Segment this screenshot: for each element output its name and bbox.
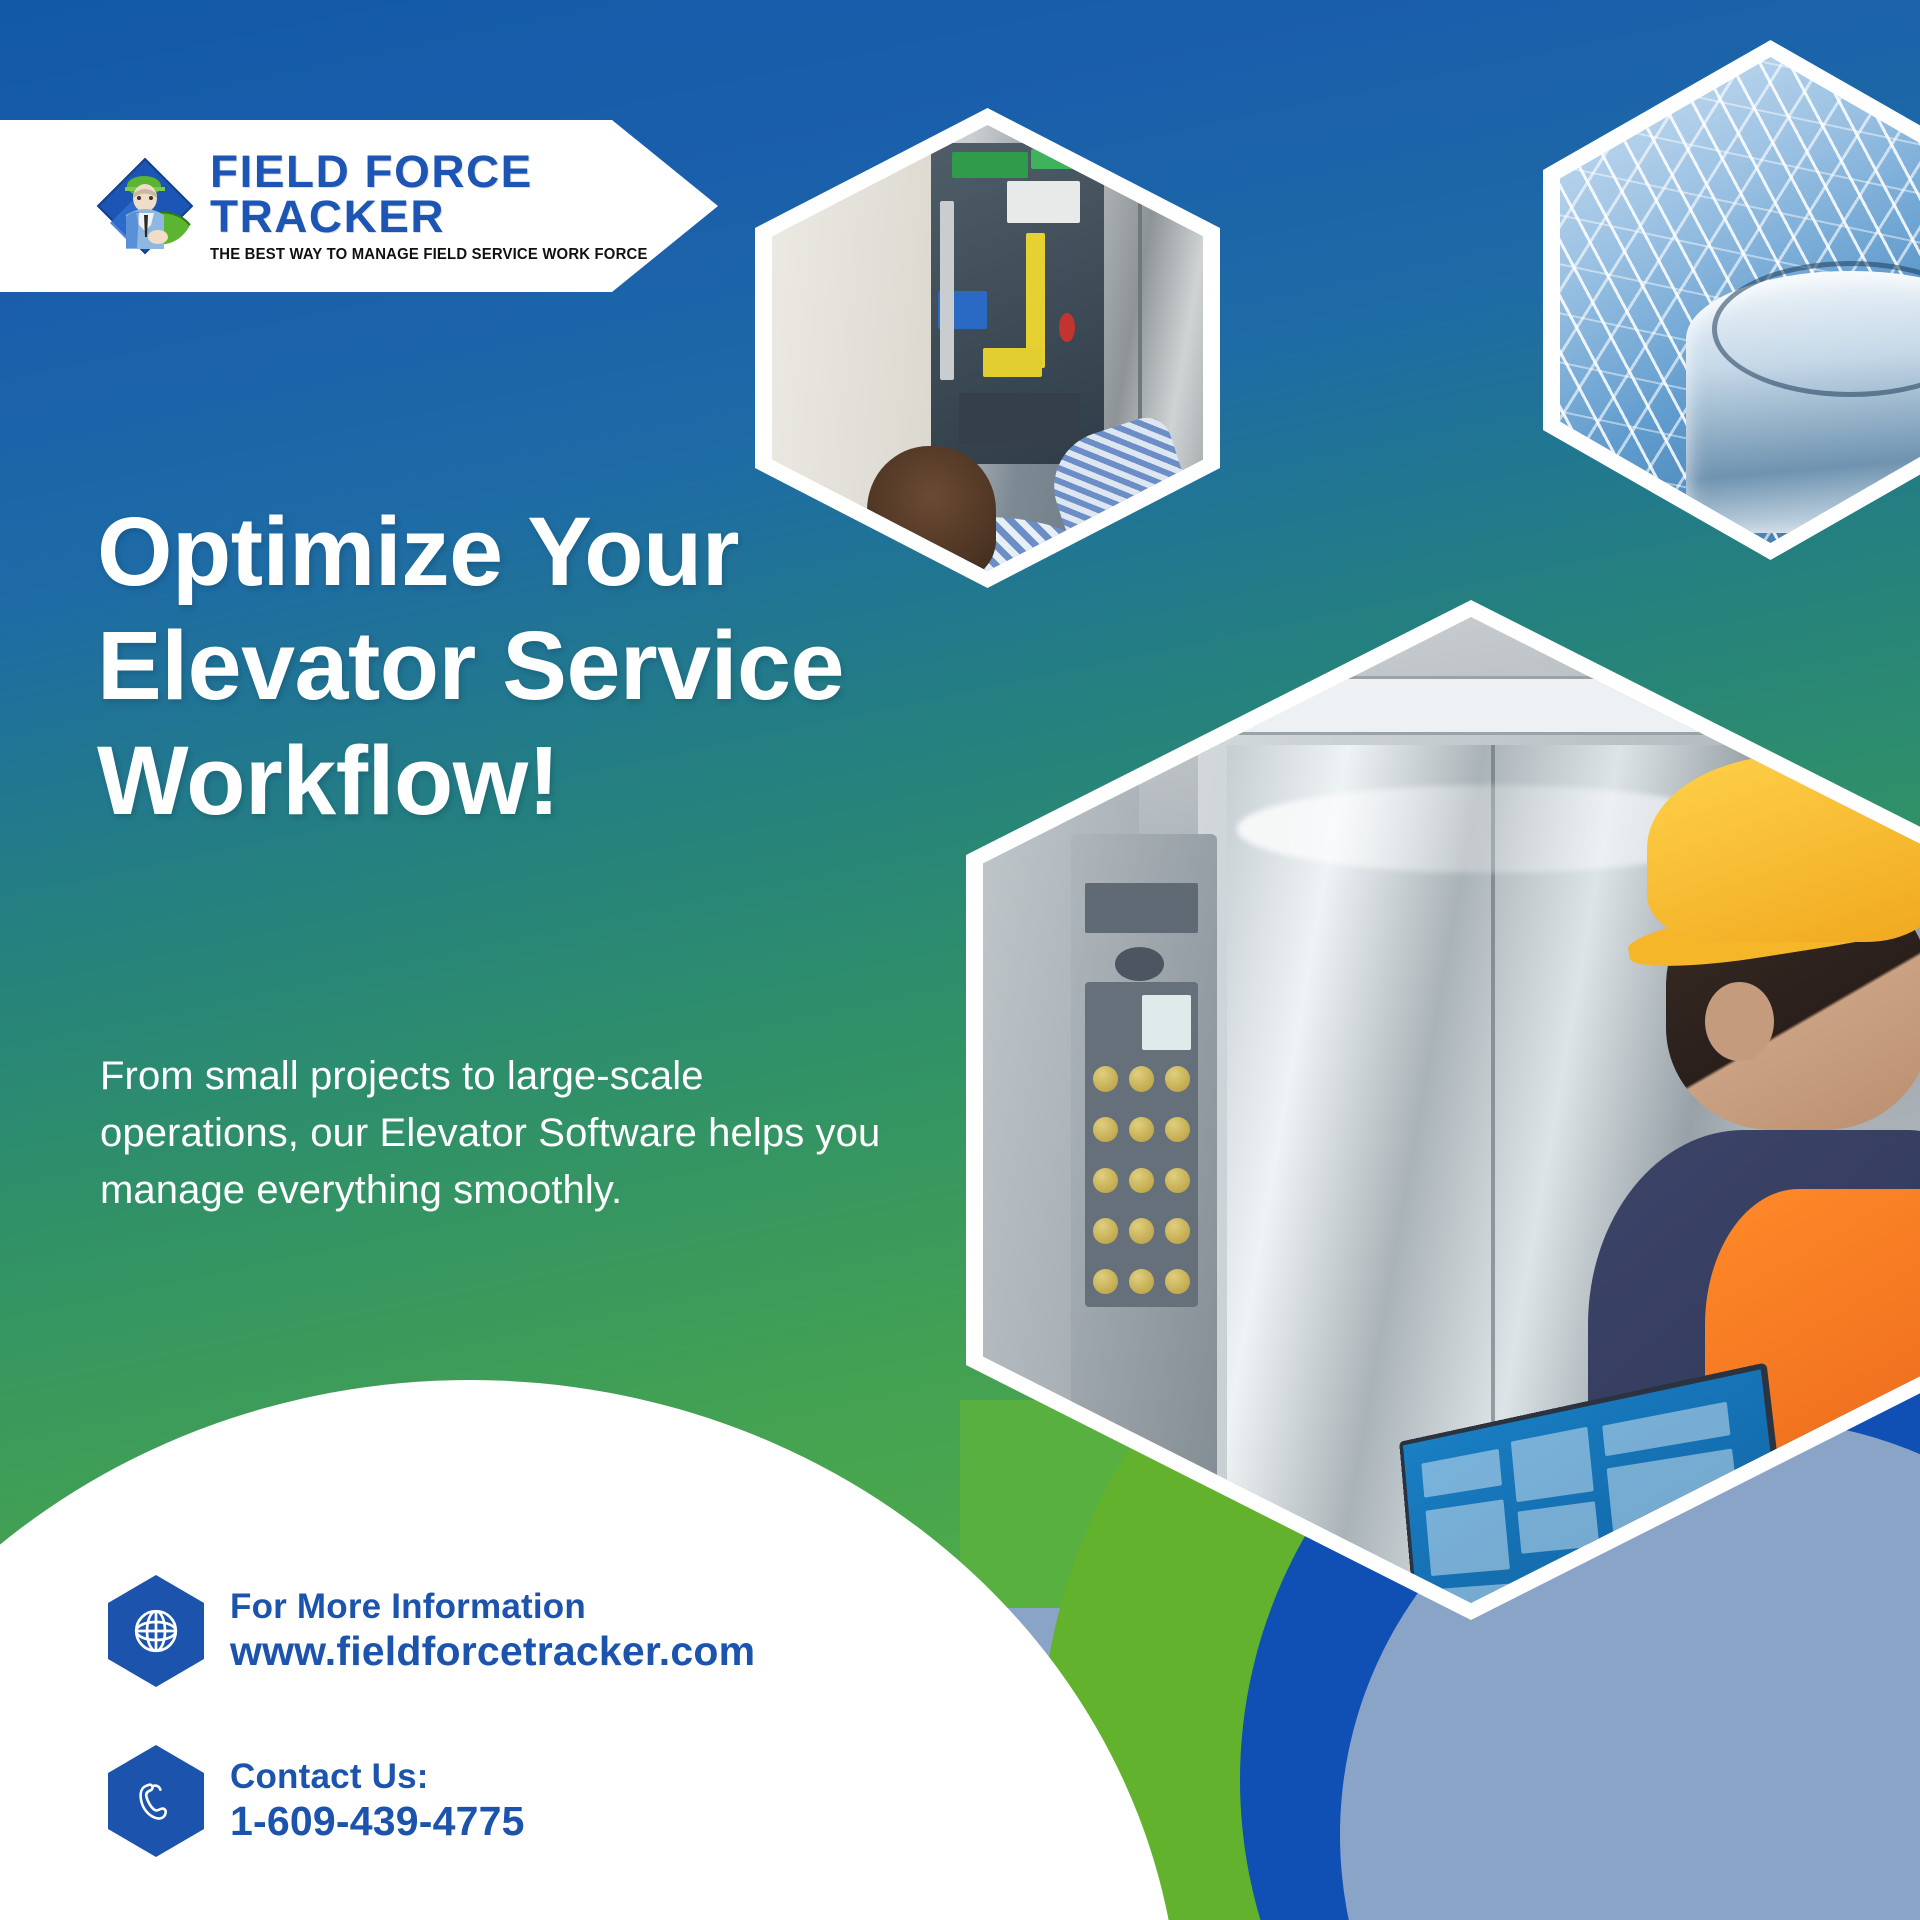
poster-canvas: FIELD FORCE TRACKER THE BEST WAY TO MANA… <box>0 0 1920 1920</box>
phone-label: Contact Us: <box>230 1757 525 1798</box>
globe-icon <box>108 1575 204 1687</box>
phone-icon <box>108 1745 204 1857</box>
contact-phone[interactable]: Contact Us: 1-609-439-4775 <box>108 1745 525 1857</box>
contact-website[interactable]: For More Information www.fieldforcetrack… <box>108 1575 755 1687</box>
logo-tagline: THE BEST WAY TO MANAGE FIELD SERVICE WOR… <box>210 246 698 264</box>
photo-elevator-control-panel-technician <box>755 108 1220 588</box>
field-technician-logo-icon <box>92 153 198 259</box>
logo-title: FIELD FORCE TRACKER <box>210 149 728 239</box>
phone-number[interactable]: 1-609-439-4775 <box>230 1798 525 1846</box>
logo-banner: FIELD FORCE TRACKER THE BEST WAY TO MANA… <box>0 120 718 292</box>
photo-elevator-shaft-structure <box>1543 40 1920 560</box>
hero-description: From small projects to large-scale opera… <box>100 1048 900 1220</box>
website-label: For More Information <box>230 1587 755 1628</box>
photo-elevator-worker-laptop <box>966 600 1920 1620</box>
website-url[interactable]: www.fieldforcetracker.com <box>230 1628 755 1676</box>
